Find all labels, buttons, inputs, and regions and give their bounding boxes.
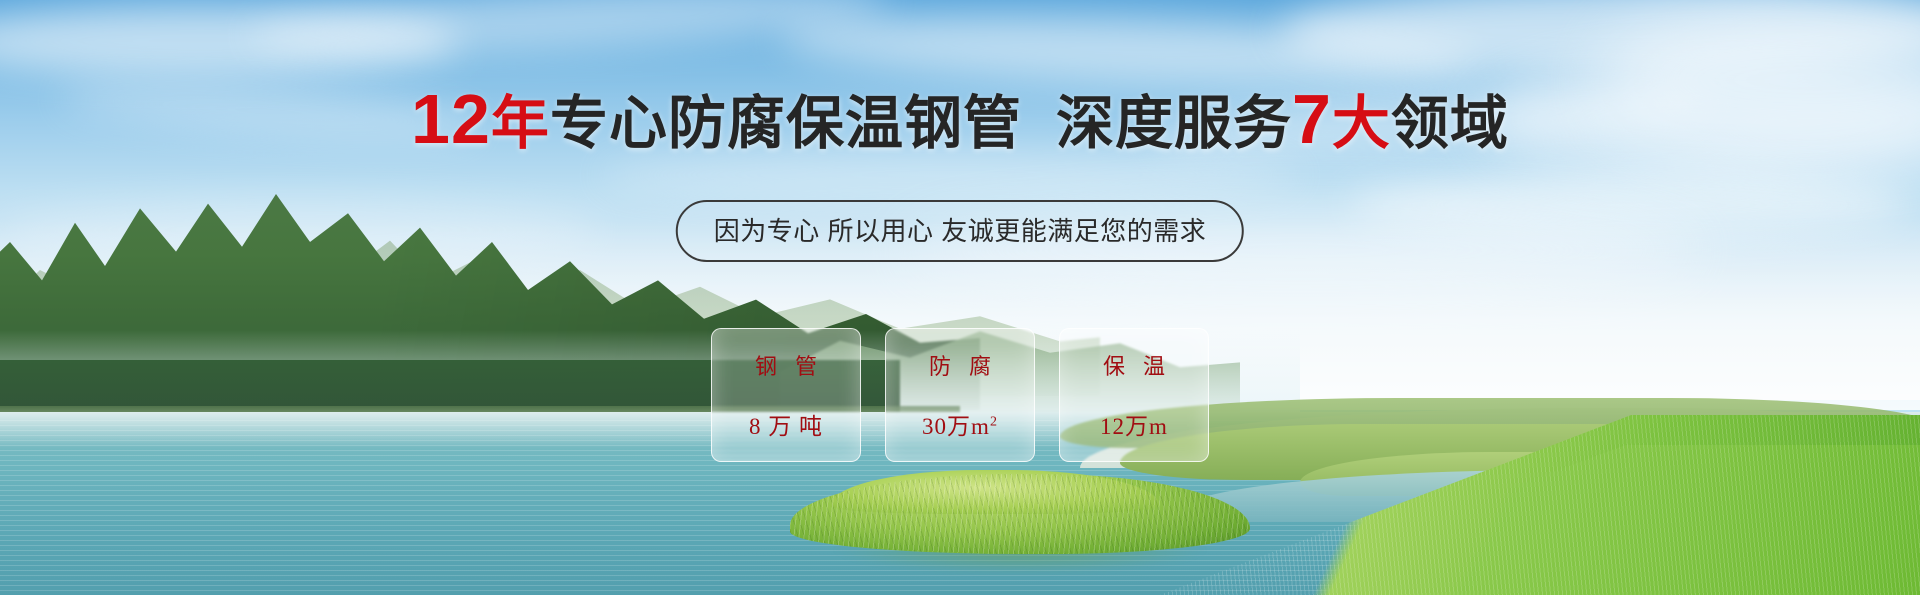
cloud-shape [600,150,1300,200]
headline-tail-text: 领域 [1391,91,1509,156]
stat-card-value-text: 8 万 吨 [749,414,823,439]
stat-card-value-sup: 2 [990,414,998,429]
stat-card-steel-pipe[interactable]: 钢 管 8 万 吨 [711,328,861,462]
stat-card-value: 8 万 吨 [749,407,823,441]
hero-banner: 12年专心防腐保温钢管深度服务7大领域 因为专心 所以用心 友诚更能满足您的需求… [0,0,1920,595]
headline-fields-unit: 大 [1332,91,1391,156]
grass-island [790,470,1250,566]
headline-years-number: 12 [411,80,491,158]
headline-years-unit: 年 [491,91,550,156]
headline-second-text: 深度服务 [1056,91,1292,156]
stat-card-group: 钢 管 8 万 吨 防 腐 30万m2 保 温 12万m [711,328,1209,462]
subtitle-pill: 因为专心 所以用心 友诚更能满足您的需求 [676,200,1244,262]
stat-card-anticorrosion[interactable]: 防 腐 30万m2 [885,328,1035,462]
stat-card-value-text: 30万m [922,414,990,439]
stat-card-value-text: 12万m [1100,414,1168,439]
stat-card-title: 防 腐 [923,349,997,381]
headline-fields-number: 7 [1292,80,1332,158]
headline-main-text: 专心防腐保温钢管 [550,91,1022,156]
stat-card-insulation[interactable]: 保 温 12万m [1059,328,1209,462]
headline: 12年专心防腐保温钢管深度服务7大领域 [0,84,1920,154]
stat-card-title: 钢 管 [749,349,823,381]
stat-card-value: 12万m [1100,407,1168,441]
stat-card-value: 30万m2 [922,407,998,441]
stat-card-title: 保 温 [1097,349,1171,381]
